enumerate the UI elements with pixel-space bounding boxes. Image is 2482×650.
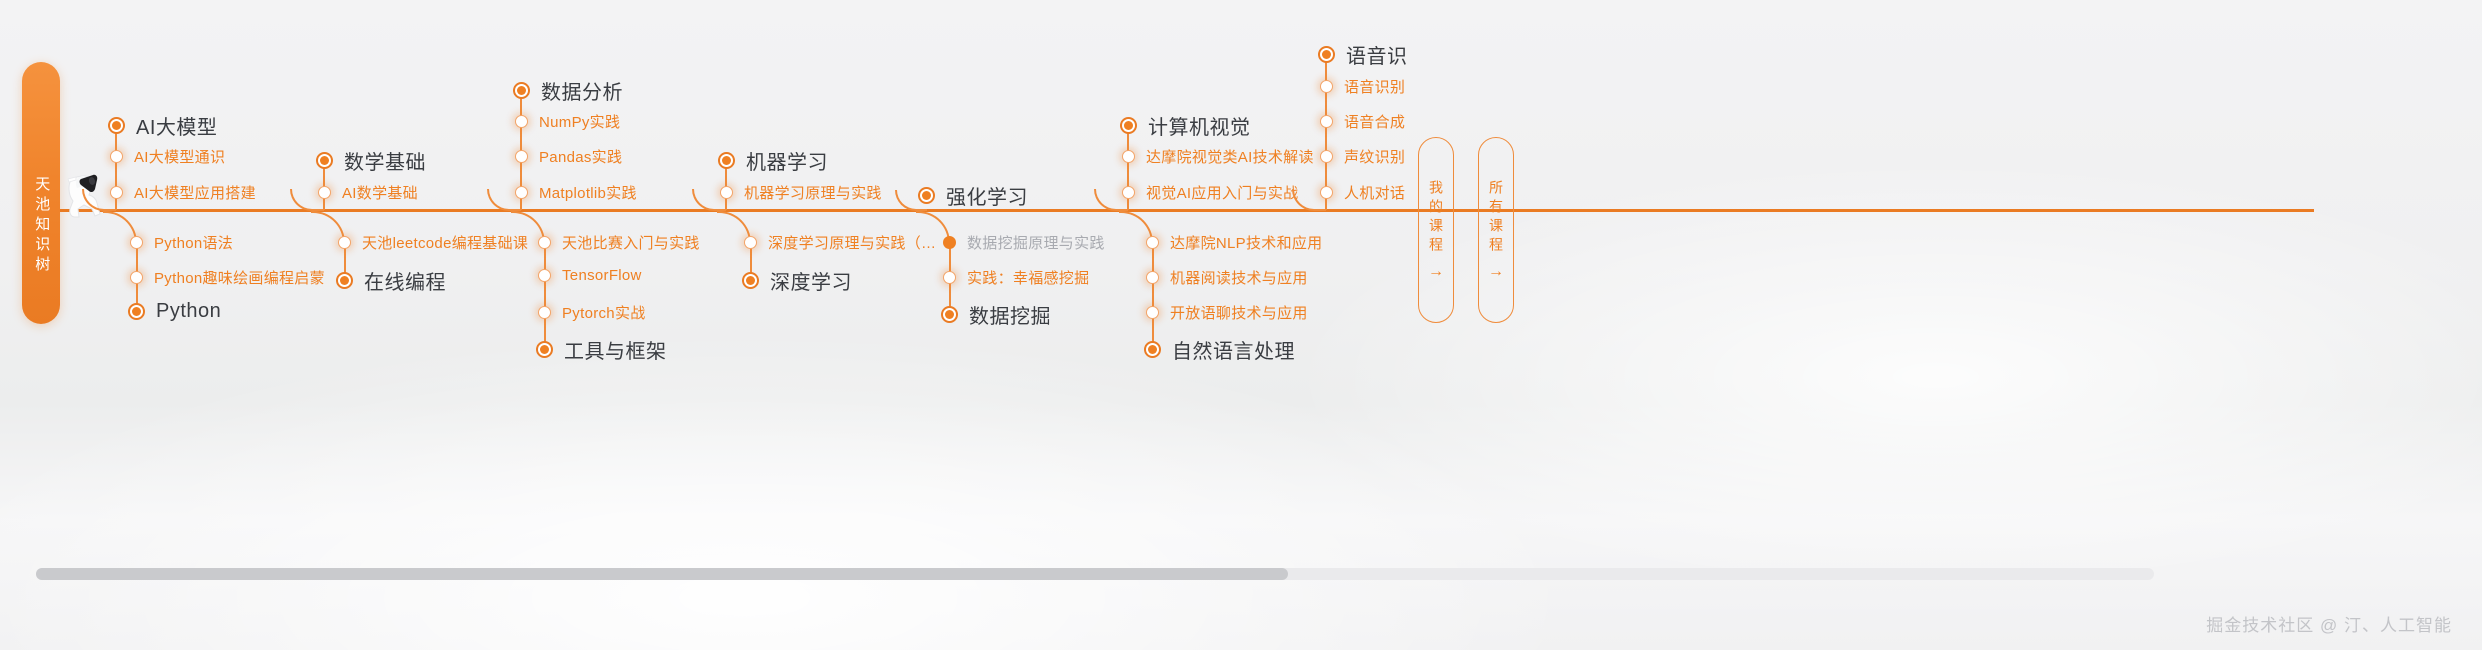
node-dot-large — [1318, 46, 1335, 63]
node-label: 自然语言处理 — [1172, 335, 1295, 364]
node-dot-small — [130, 271, 143, 284]
node-dot-small — [1146, 306, 1159, 319]
node-dot-small — [1122, 150, 1135, 163]
node-tools-frameworks-child-2[interactable]: Pytorch实战 — [538, 302, 646, 323]
node-online-coding-child-0[interactable]: 天池leetcode编程基础课 — [338, 232, 528, 253]
node-label: Matplotlib实践 — [539, 182, 637, 203]
node-label: 数学基础 — [344, 146, 426, 175]
node-machine-learning-child-0[interactable]: 机器学习原理与实践 — [720, 182, 882, 203]
node-dot-small — [515, 115, 528, 128]
node-speech-recognition-child-1[interactable]: 语音合成 — [1320, 111, 1405, 132]
node-computer-vision-child-1[interactable]: 视觉AI应用入门与实战 — [1122, 182, 1298, 203]
branch-elbow — [692, 189, 726, 211]
node-dot-large — [918, 187, 935, 204]
node-data-mining-child-0[interactable]: 数据挖掘原理与实践 — [943, 232, 1105, 253]
node-dot-small — [943, 236, 956, 249]
node-label: Python趣味绘画编程启蒙 — [154, 267, 325, 288]
node-dot-small — [110, 150, 123, 163]
node-dot-large — [316, 152, 333, 169]
horizontal-scrollbar-track[interactable] — [36, 568, 2154, 580]
node-nlp-head[interactable]: 自然语言处理 — [1144, 335, 1295, 364]
root-node-tianchi-knowledge-tree[interactable]: 天池知识树 — [22, 62, 60, 324]
node-label: 实践：幸福感挖掘 — [967, 267, 1089, 288]
node-label: 人机对话 — [1344, 182, 1405, 203]
node-python-head[interactable]: Python — [128, 300, 221, 323]
node-label: 数据挖掘原理与实践 — [967, 232, 1105, 253]
node-nlp-child-0[interactable]: 达摩院NLP技术和应用 — [1146, 232, 1322, 253]
node-label: Python语法 — [154, 232, 233, 253]
node-dot-large — [128, 303, 145, 320]
branch-elbow — [487, 189, 521, 211]
node-computer-vision-child-0[interactable]: 达摩院视觉类AI技术解读 — [1122, 146, 1314, 167]
node-data-analysis-child-0[interactable]: NumPy实践 — [515, 111, 620, 132]
node-dot-small — [338, 236, 351, 249]
node-dot-small — [538, 306, 551, 319]
branch-elbow — [290, 189, 324, 211]
node-dot-small — [130, 236, 143, 249]
node-nlp-child-1[interactable]: 机器阅读技术与应用 — [1146, 267, 1308, 288]
root-node-label: 天池知识树 — [33, 176, 50, 276]
node-label: 机器学习原理与实践 — [744, 182, 882, 203]
horizontal-scrollbar-thumb[interactable] — [36, 568, 1288, 580]
node-dot-small — [515, 150, 528, 163]
node-label: 达摩院NLP技术和应用 — [1170, 232, 1322, 253]
node-data-analysis-head[interactable]: 数据分析 — [513, 76, 623, 105]
all-courses-label: 所有课程 — [1486, 180, 1506, 256]
my-courses-button[interactable]: 我的课程 → — [1418, 137, 1454, 323]
node-label: 天池比赛入门与实践 — [562, 232, 700, 253]
node-dot-small — [1146, 236, 1159, 249]
node-tools-frameworks-child-0[interactable]: 天池比赛入门与实践 — [538, 232, 700, 253]
node-label: Python — [156, 300, 221, 323]
node-label: AI大模型 — [136, 111, 217, 140]
node-machine-learning-head[interactable]: 机器学习 — [718, 146, 828, 175]
node-label: NumPy实践 — [539, 111, 620, 132]
node-data-analysis-child-1[interactable]: Pandas实践 — [515, 146, 622, 167]
node-label: Pandas实践 — [539, 146, 622, 167]
arrow-right-icon: → — [1428, 264, 1444, 280]
node-dot-large — [1144, 341, 1161, 358]
node-dot-large — [742, 272, 759, 289]
node-python-child-0[interactable]: Python语法 — [130, 232, 233, 253]
node-label: 工具与框架 — [564, 335, 667, 364]
node-label: 强化学习 — [946, 181, 1028, 210]
node-data-mining-child-1[interactable]: 实践：幸福感挖掘 — [943, 267, 1089, 288]
node-dot-small — [538, 269, 551, 282]
node-computer-vision-head[interactable]: 计算机视觉 — [1120, 111, 1251, 140]
node-label: 视觉AI应用入门与实战 — [1146, 182, 1298, 203]
watermark-text: 掘金技术社区 @ 汀、人工智能 — [2206, 611, 2452, 636]
node-dot-large — [718, 152, 735, 169]
node-label: 语音识别 — [1344, 76, 1405, 97]
node-dot-small — [943, 271, 956, 284]
node-ai-large-model-child-0[interactable]: AI大模型通识 — [110, 146, 225, 167]
node-label: AI大模型通识 — [134, 146, 225, 167]
node-label: TensorFlow — [562, 267, 642, 284]
node-speech-recognition-child-3[interactable]: 人机对话 — [1320, 182, 1405, 203]
node-label: Pytorch实战 — [562, 302, 646, 323]
node-speech-recognition-child-2[interactable]: 声纹识别 — [1320, 146, 1405, 167]
node-speech-recognition-child-0[interactable]: 语音识别 — [1320, 76, 1405, 97]
node-dot-large — [108, 117, 125, 134]
node-label: 声纹识别 — [1344, 146, 1405, 167]
node-tools-frameworks-head[interactable]: 工具与框架 — [536, 335, 667, 364]
node-label: 深度学习 — [770, 266, 852, 295]
node-deep-learning-child-0[interactable]: 深度学习原理与实践（… — [744, 232, 936, 253]
node-dot-small — [744, 236, 757, 249]
main-axis-line — [60, 209, 2314, 212]
node-dot-small — [1320, 150, 1333, 163]
node-label: 计算机视觉 — [1148, 111, 1251, 140]
node-label: 天池leetcode编程基础课 — [362, 232, 528, 253]
node-dot-large — [336, 272, 353, 289]
node-dot-small — [1320, 115, 1333, 128]
node-dot-small — [1146, 271, 1159, 284]
node-math-foundation-head[interactable]: 数学基础 — [316, 146, 426, 175]
node-dot-large — [1120, 117, 1137, 134]
node-dot-small — [538, 236, 551, 249]
node-label: 数据挖掘 — [969, 300, 1051, 329]
node-label: 机器阅读技术与应用 — [1170, 267, 1308, 288]
branch-elbow — [1094, 189, 1128, 211]
node-data-mining-head[interactable]: 数据挖掘 — [941, 300, 1051, 329]
node-label: 语音合成 — [1344, 111, 1405, 132]
node-deep-learning-head[interactable]: 深度学习 — [742, 266, 852, 295]
node-label: 在线编程 — [364, 266, 446, 295]
arrow-right-icon: → — [1488, 264, 1504, 280]
node-online-coding-head[interactable]: 在线编程 — [336, 266, 446, 295]
node-ai-large-model-child-1[interactable]: AI大模型应用搭建 — [110, 182, 256, 203]
node-label: 语音识 — [1346, 40, 1408, 69]
node-label: AI大模型应用搭建 — [134, 182, 256, 203]
node-label: 深度学习原理与实践（… — [768, 232, 936, 253]
node-ai-large-model-head[interactable]: AI大模型 — [108, 111, 217, 140]
knowledge-tree-canvas: 天池知识树 AI大模型 AI大模型通识 AI大模型应用搭建 — [0, 0, 2482, 650]
my-courses-label: 我的课程 — [1426, 180, 1446, 256]
branch-elbow — [1292, 189, 1326, 211]
node-label: 达摩院视觉类AI技术解读 — [1146, 146, 1314, 167]
node-dot-small — [1320, 80, 1333, 93]
node-label: 开放语聊技术与应用 — [1170, 302, 1308, 323]
node-dot-large — [536, 341, 553, 358]
node-label: 数据分析 — [541, 76, 623, 105]
all-courses-button[interactable]: 所有课程 → — [1478, 137, 1514, 323]
node-dot-large — [513, 82, 530, 99]
node-dot-large — [941, 306, 958, 323]
node-nlp-child-2[interactable]: 开放语聊技术与应用 — [1146, 302, 1308, 323]
node-reinforcement-learning-head[interactable]: 强化学习 — [918, 181, 1028, 210]
node-label: AI数学基础 — [342, 182, 418, 203]
node-tools-frameworks-child-1[interactable]: TensorFlow — [538, 267, 642, 284]
node-speech-recognition-head[interactable]: 语音识 — [1318, 40, 1408, 69]
node-data-analysis-child-2[interactable]: Matplotlib实践 — [515, 182, 637, 203]
node-python-child-1[interactable]: Python趣味绘画编程启蒙 — [130, 267, 325, 288]
node-math-foundation-child-0[interactable]: AI数学基础 — [318, 182, 418, 203]
node-label: 机器学习 — [746, 146, 828, 175]
